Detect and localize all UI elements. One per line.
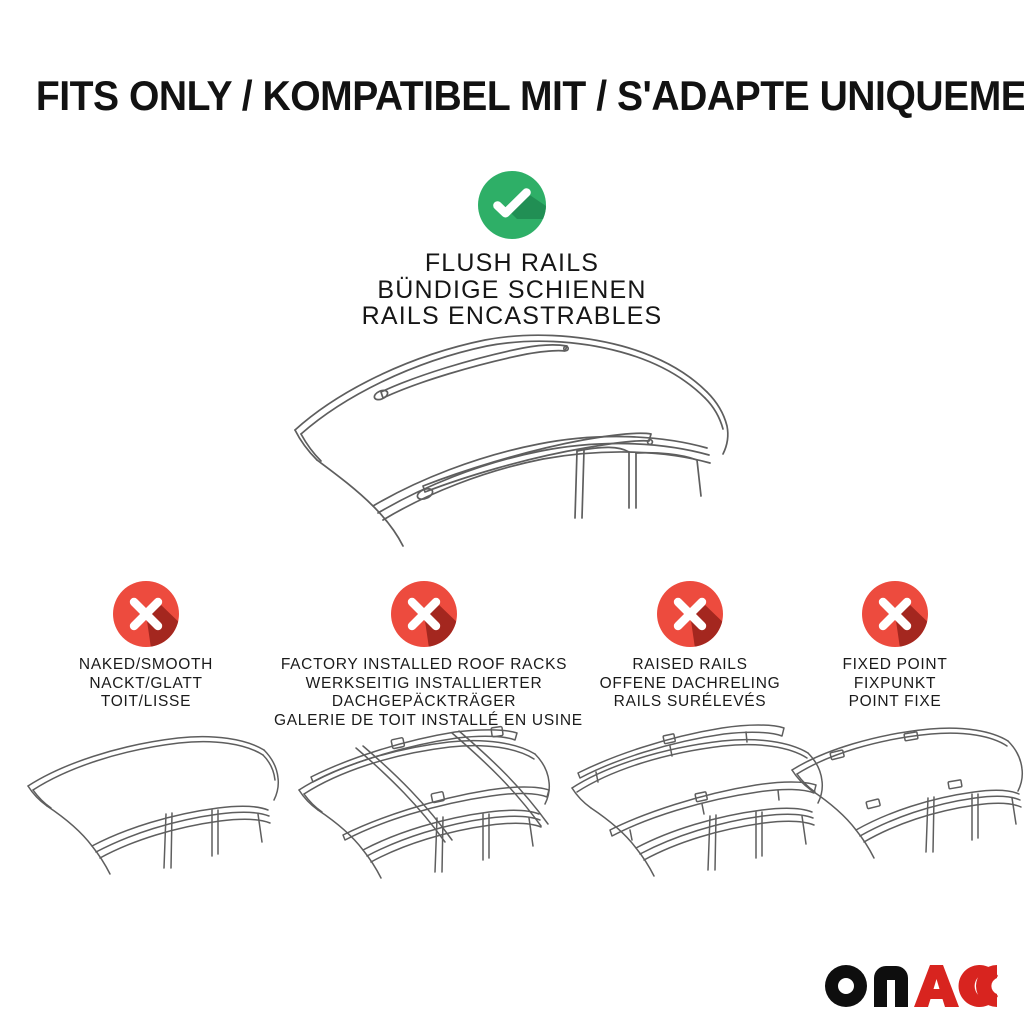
compatible-labels: FLUSH RAILS BÜNDIGE SCHIENEN RAILS ENCAS…	[0, 250, 1024, 330]
car-roof-fixed-point-illustration	[778, 720, 1024, 905]
fitment-compatibility-graphic: FITS ONLY / KOMPATIBEL MIT / S'ADAPTE UN…	[0, 0, 1024, 1024]
incompatible-item-factory-roof-racks: FACTORY INSTALLED ROOF RACKS WERKSEITIG …	[274, 580, 574, 730]
label-de: OFFENE DACHRELING	[570, 675, 810, 694]
label-fr: RAILS SURÉLEVÉS	[570, 693, 810, 712]
label-fr: POINT FIXE	[790, 693, 1000, 712]
green-check-circle-icon	[477, 170, 547, 240]
incompatible-labels-raised-rails: RAISED RAILS OFFENE DACHRELING RAILS SUR…	[570, 656, 810, 712]
incompatible-labels-naked-smooth: NAKED/SMOOTH NACKT/GLATT TOIT/LISSE	[26, 656, 266, 712]
car-roof-with-flush-rails-illustration	[277, 330, 747, 570]
label-de-2: DACHGEPÄCKTRÄGER	[274, 693, 574, 712]
incompatible-item-naked-smooth: NAKED/SMOOTH NACKT/GLATT TOIT/LISSE	[26, 580, 266, 712]
car-roof-naked-smooth-illustration	[6, 720, 286, 905]
red-cross-circle-icon	[656, 580, 724, 648]
red-cross-circle-icon	[390, 580, 458, 648]
label-en: RAISED RAILS	[570, 656, 810, 675]
label-de: FIXPUNKT	[790, 675, 1000, 694]
label-en: FACTORY INSTALLED ROOF RACKS	[274, 656, 574, 675]
logo-letter-o	[825, 965, 867, 1007]
logo-letter-a	[914, 965, 959, 1007]
label-de-1: WERKSEITIG INSTALLIERTER	[274, 675, 574, 694]
incompatible-item-fixed-point: FIXED POINT FIXPUNKT POINT FIXE	[790, 580, 1000, 712]
incompatible-labels-fixed-point: FIXED POINT FIXPUNKT POINT FIXE	[790, 656, 1000, 712]
logo-letter-c	[959, 965, 998, 1007]
label-en: NAKED/SMOOTH	[26, 656, 266, 675]
page-title: FITS ONLY / KOMPATIBEL MIT / S'ADAPTE UN…	[36, 72, 988, 120]
incompatible-section: NAKED/SMOOTH NACKT/GLATT TOIT/LISSE	[0, 580, 1024, 1020]
compatible-label-en: FLUSH RAILS	[0, 250, 1024, 277]
compatible-section: FLUSH RAILS BÜNDIGE SCHIENEN RAILS ENCAS…	[0, 170, 1024, 330]
red-cross-circle-icon	[112, 580, 180, 648]
compatible-label-de: BÜNDIGE SCHIENEN	[0, 277, 1024, 304]
red-cross-circle-icon	[861, 580, 929, 648]
incompatible-item-raised-rails: RAISED RAILS OFFENE DACHRELING RAILS SUR…	[570, 580, 810, 712]
label-de: NACKT/GLATT	[26, 675, 266, 694]
label-fr: TOIT/LISSE	[26, 693, 266, 712]
incompatible-labels-factory-roof-racks: FACTORY INSTALLED ROOF RACKS WERKSEITIG …	[274, 656, 574, 730]
car-roof-factory-roof-racks-illustration	[279, 720, 569, 905]
omac-logo	[822, 960, 1002, 1012]
label-en: FIXED POINT	[790, 656, 1000, 675]
compatible-label-fr: RAILS ENCASTRABLES	[0, 303, 1024, 330]
logo-letter-m	[874, 966, 908, 1007]
